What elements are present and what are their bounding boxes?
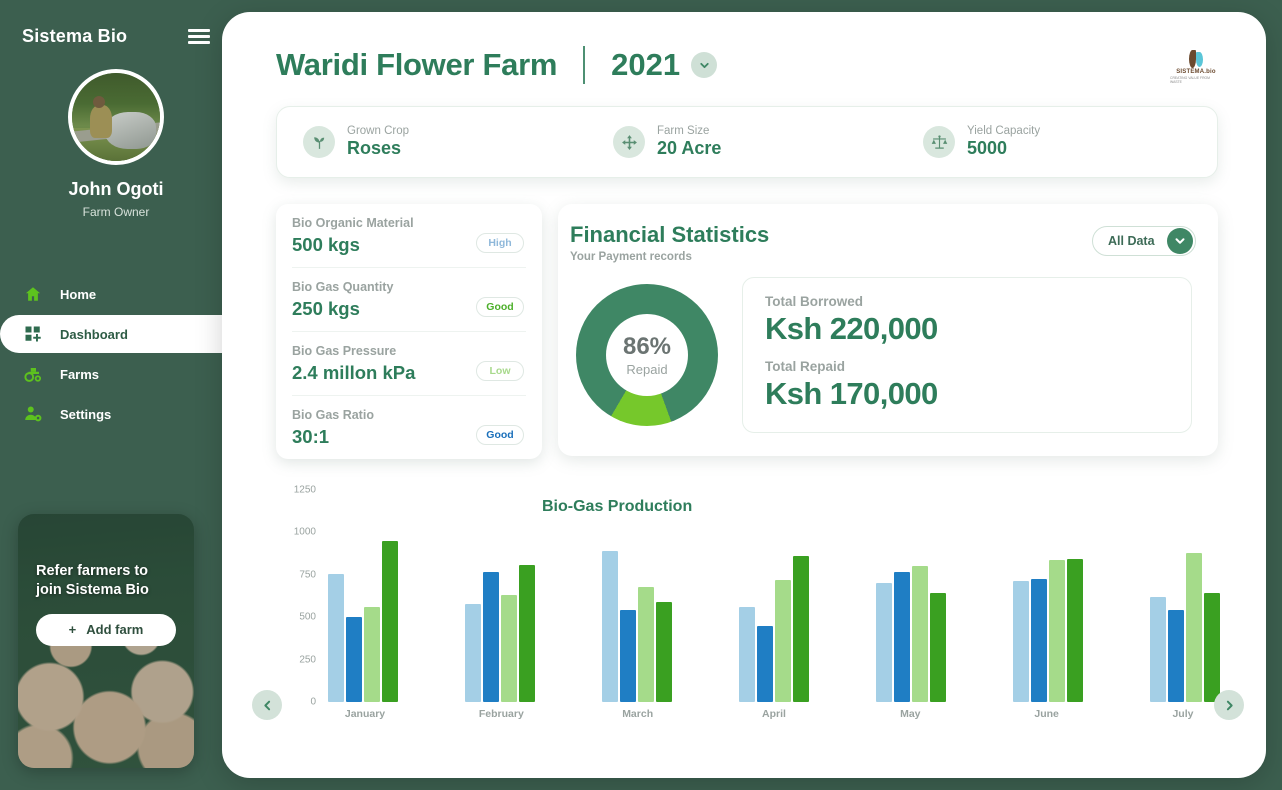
year-value: 2021: [611, 47, 680, 83]
page-title: Waridi Flower Farm: [276, 47, 557, 83]
refer-headline: Refer farmers to join Sistema Bio: [18, 514, 194, 600]
bar: [1031, 579, 1047, 702]
x-axis-labels: JanuaryFebruaryMarchAprilMayJuneJuly: [328, 708, 1220, 720]
metric-row: Bio Organic Material 500 kgs High: [292, 204, 526, 268]
info-item-grown-crop: Grown Crop Roses: [303, 125, 613, 159]
y-axis: 025050075010001250: [276, 490, 316, 702]
balance-scale-icon: [923, 126, 955, 158]
bar: [739, 607, 755, 702]
total-repaid-block: Total Repaid Ksh 170,000: [765, 359, 1169, 412]
x-axis-label: June: [1010, 708, 1084, 720]
donut-caption: Repaid: [626, 362, 667, 377]
financial-statistics-card: Financial Statistics Your Payment record…: [558, 204, 1218, 456]
sidebar-header: Sistema Bio: [0, 0, 232, 47]
metric-row: Bio Gas Quantity 250 kgs Good: [292, 268, 526, 332]
tractor-icon: [22, 363, 44, 385]
metric-label: Bio Organic Material: [292, 216, 526, 230]
amount-label: Total Repaid: [765, 359, 1169, 374]
metric-label: Bio Gas Ratio: [292, 408, 526, 422]
avatar-container: [0, 69, 232, 165]
status-badge: Good: [476, 425, 524, 445]
info-value: 5000: [967, 138, 1040, 159]
bar: [483, 572, 499, 702]
sidebar-item-settings[interactable]: Settings: [0, 395, 232, 433]
year-dropdown-chevron-down-icon[interactable]: [691, 52, 717, 78]
sidebar-item-label: Home: [60, 287, 96, 302]
plot-area: [328, 490, 1220, 702]
x-axis-label: January: [328, 708, 402, 720]
add-farm-label: Add farm: [86, 622, 143, 637]
bar-group: [602, 490, 672, 702]
bar: [912, 566, 928, 702]
biogas-production-chart: Bio-Gas Production 025050075010001250 Ja…: [222, 490, 1266, 760]
sidebar-item-home[interactable]: Home: [0, 275, 232, 313]
bar: [1150, 597, 1166, 702]
seedling-icon: [303, 126, 335, 158]
sidebar-item-dashboard[interactable]: Dashboard: [0, 315, 232, 353]
bar: [894, 572, 910, 702]
arrows-expand-icon: [613, 126, 645, 158]
bar-group: [876, 490, 946, 702]
plus-icon: +: [69, 622, 77, 637]
x-axis-label: July: [1146, 708, 1220, 720]
sistema-bio-logo: SISTEMA.bio CREATING VALUE FROM WASTE: [1170, 48, 1222, 84]
status-badge: High: [476, 233, 524, 253]
add-farm-button[interactable]: + Add farm: [36, 614, 176, 646]
bar: [465, 604, 481, 702]
bar: [501, 595, 517, 702]
metric-row: Bio Gas Pressure 2.4 millon kPa Low: [292, 332, 526, 396]
bar: [328, 574, 344, 702]
all-data-label: All Data: [1108, 234, 1155, 248]
status-badge: Good: [476, 297, 524, 317]
info-label: Farm Size: [657, 125, 721, 137]
sidebar-item-farms[interactable]: Farms: [0, 355, 232, 393]
metric-label: Bio Gas Pressure: [292, 344, 526, 358]
bar-group: [1150, 490, 1220, 702]
sidebar-item-label: Settings: [60, 407, 111, 422]
bar: [346, 617, 362, 702]
status-badge: Low: [476, 361, 524, 381]
sidebar-item-label: Farms: [60, 367, 99, 382]
bar: [1049, 560, 1065, 702]
bar: [775, 580, 791, 702]
bar-group: [328, 490, 398, 702]
repaid-donut-chart: 86% Repaid: [576, 284, 718, 426]
amount-value: Ksh 220,000: [765, 311, 1169, 347]
bar: [602, 551, 618, 702]
middle-row: Bio Organic Material 500 kgs High Bio Ga…: [276, 204, 1218, 459]
y-axis-tick: 0: [310, 697, 316, 708]
farm-info-card: Grown Crop Roses Farm Size 20 Acre: [276, 106, 1218, 178]
home-icon: [22, 283, 44, 305]
y-axis-tick: 1250: [294, 485, 316, 496]
bar: [1204, 593, 1220, 702]
info-label: Yield Capacity: [967, 125, 1040, 137]
page-header: Waridi Flower Farm 2021: [276, 46, 1218, 84]
user-role: Farm Owner: [0, 205, 232, 219]
hamburger-icon[interactable]: [188, 29, 210, 44]
logo-tagline: CREATING VALUE FROM WASTE: [1170, 76, 1222, 84]
metric-row: Bio Gas Ratio 30:1 Good: [292, 396, 526, 459]
dashboard-grid-icon: [22, 323, 44, 345]
bar: [930, 593, 946, 702]
flame-droplet-icon: [1189, 48, 1203, 67]
total-borrowed-block: Total Borrowed Ksh 220,000: [765, 294, 1169, 347]
bar-group: [465, 490, 535, 702]
bar: [1168, 610, 1184, 702]
totals-box: Total Borrowed Ksh 220,000 Total Repaid …: [742, 277, 1192, 433]
title-divider: [583, 46, 585, 84]
user-gear-icon: [22, 403, 44, 425]
x-axis-label: May: [873, 708, 947, 720]
bar: [1013, 581, 1029, 702]
x-axis-label: March: [601, 708, 675, 720]
chevron-down-icon: [1167, 228, 1193, 254]
sidebar: Sistema Bio John Ogoti Farm Owner Home: [0, 0, 232, 790]
sidebar-item-label: Dashboard: [60, 327, 128, 342]
x-axis-label: February: [464, 708, 538, 720]
bio-metrics-card: Bio Organic Material 500 kgs High Bio Ga…: [276, 204, 542, 459]
chart-prev-chevron-left-icon[interactable]: [252, 690, 282, 720]
donut-center: 86% Repaid: [606, 314, 688, 396]
financial-body: 86% Repaid Total Borrowed Ksh 220,000 To…: [570, 277, 1196, 433]
brand-title: Sistema Bio: [22, 26, 127, 47]
bar: [656, 602, 672, 702]
bar: [638, 587, 654, 702]
chart-next-chevron-right-icon[interactable]: [1214, 690, 1244, 720]
y-axis-tick: 1000: [294, 527, 316, 538]
amount-value: Ksh 170,000: [765, 376, 1169, 412]
dashboard-app: Sistema Bio John Ogoti Farm Owner Home: [0, 0, 1282, 790]
main-panel: Waridi Flower Farm 2021 SISTEMA.bio CREA…: [222, 12, 1266, 778]
info-item-yield-capacity: Yield Capacity 5000: [923, 125, 1040, 159]
sidebar-nav: Home Dashboard: [0, 275, 232, 433]
bar-group: [739, 490, 809, 702]
y-axis-tick: 500: [299, 612, 316, 623]
logo-wordmark: SISTEMA.bio: [1176, 69, 1216, 75]
info-value: 20 Acre: [657, 138, 721, 159]
amount-label: Total Borrowed: [765, 294, 1169, 309]
y-axis-tick: 250: [299, 654, 316, 665]
info-label: Grown Crop: [347, 125, 409, 137]
bar-group: [1013, 490, 1083, 702]
refer-card: Refer farmers to join Sistema Bio + Add …: [18, 514, 194, 768]
x-axis-label: April: [737, 708, 811, 720]
all-data-filter-dropdown[interactable]: All Data: [1092, 226, 1196, 256]
avatar: [68, 69, 164, 165]
donut-percent: 86%: [623, 333, 671, 361]
info-value: Roses: [347, 138, 409, 159]
bar: [519, 565, 535, 702]
bar: [757, 626, 773, 702]
bar: [1067, 559, 1083, 702]
info-item-farm-size: Farm Size 20 Acre: [613, 125, 923, 159]
bar: [620, 610, 636, 702]
user-name: John Ogoti: [0, 179, 232, 200]
y-axis-tick: 750: [299, 569, 316, 580]
bar: [793, 556, 809, 702]
bar: [382, 541, 398, 702]
bar: [364, 607, 380, 702]
metric-label: Bio Gas Quantity: [292, 280, 526, 294]
bar: [876, 583, 892, 702]
bar: [1186, 553, 1202, 702]
